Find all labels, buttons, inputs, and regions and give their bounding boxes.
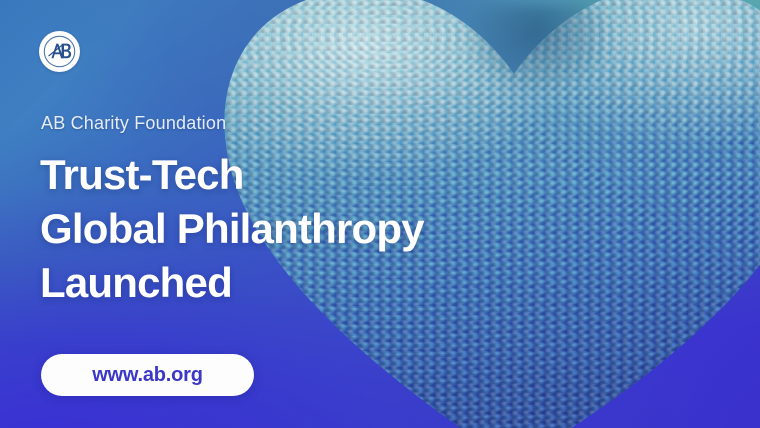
ab-logo[interactable] <box>39 31 80 72</box>
organization-name: AB Charity Foundation <box>41 113 226 134</box>
headline-line-2: Global Philanthropy <box>40 202 510 256</box>
ab-monogram-circle-icon <box>42 34 77 69</box>
headline-line-1: Trust-Tech <box>40 148 510 202</box>
promo-banner: AB Charity Foundation Trust-Tech Global … <box>0 0 760 428</box>
website-cta-button[interactable]: www.ab.org <box>41 354 254 396</box>
banner-content: AB Charity Foundation Trust-Tech Global … <box>0 0 760 428</box>
headline: Trust-Tech Global Philanthropy Launched <box>40 148 510 310</box>
headline-line-3: Launched <box>40 256 510 310</box>
